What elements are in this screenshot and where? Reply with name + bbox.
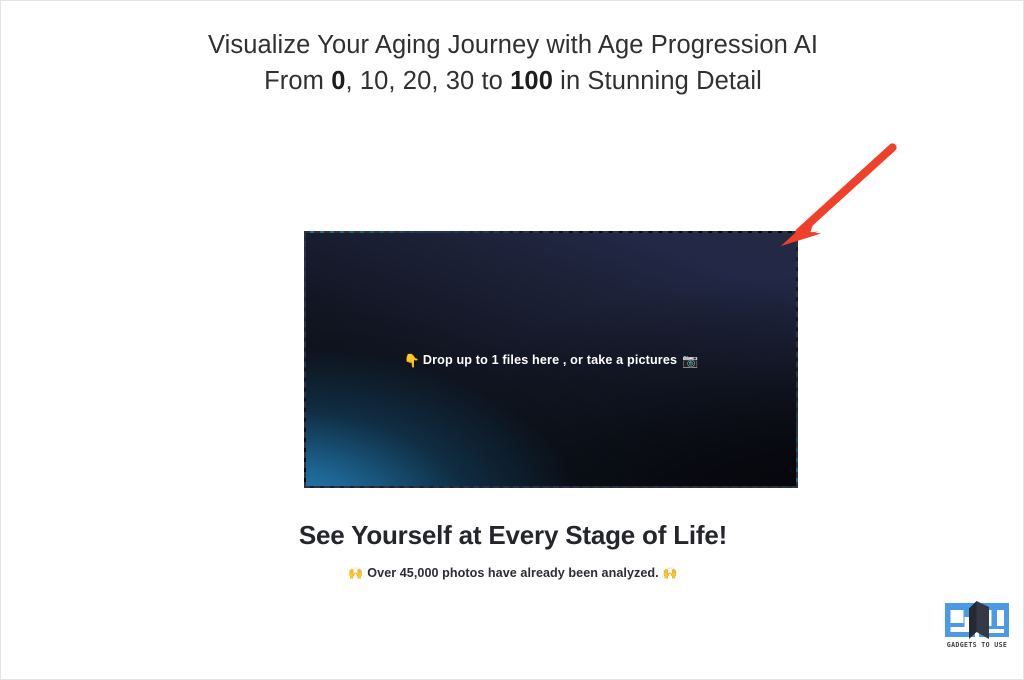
analyzed-count-text: 🙌Over 45,000 photos have already been an…	[1, 566, 1024, 580]
page-title-line-1: Visualize Your Aging Journey with Age Pr…	[208, 31, 818, 59]
page-root: Visualize Your Aging Journey with Age Pr…	[0, 0, 1024, 680]
watermark-brand-text: GADGETS TO USE	[939, 641, 1015, 649]
file-dropzone[interactable]: 👇Drop up to 1 files here , or take a pic…	[304, 231, 798, 488]
page-title-line-2: From 0, 10, 20, 30 to 100 in Stunning De…	[1, 63, 1024, 99]
camera-icon: 📷	[682, 353, 698, 368]
page-title-line-2-prefix: From	[264, 67, 331, 95]
dropzone-label: 👇Drop up to 1 files here , or take a pic…	[306, 353, 796, 369]
age-value-end: 100	[510, 67, 553, 95]
page-title: Visualize Your Aging Journey with Age Pr…	[1, 27, 1024, 99]
page-title-line-2-middle: , 10, 20, 30 to	[346, 67, 511, 95]
watermark: GADGETS TO USE	[939, 601, 1015, 659]
age-value-start: 0	[331, 67, 345, 95]
section-heading: See Yourself at Every Stage of Life!	[1, 520, 1024, 551]
dropzone-label-text: Drop up to 1 files here , or take a pict…	[423, 353, 677, 367]
page-title-line-2-suffix: in Stunning Detail	[553, 67, 762, 95]
gadgets-to-use-logo-icon	[945, 601, 1009, 639]
raising-hands-icon-right: 🙌	[663, 566, 678, 580]
analyzed-count-label: Over 45,000 photos have already been ana…	[367, 566, 658, 580]
pointing-down-hand-icon: 👇	[403, 353, 419, 368]
raising-hands-icon-left: 🙌	[348, 566, 363, 580]
